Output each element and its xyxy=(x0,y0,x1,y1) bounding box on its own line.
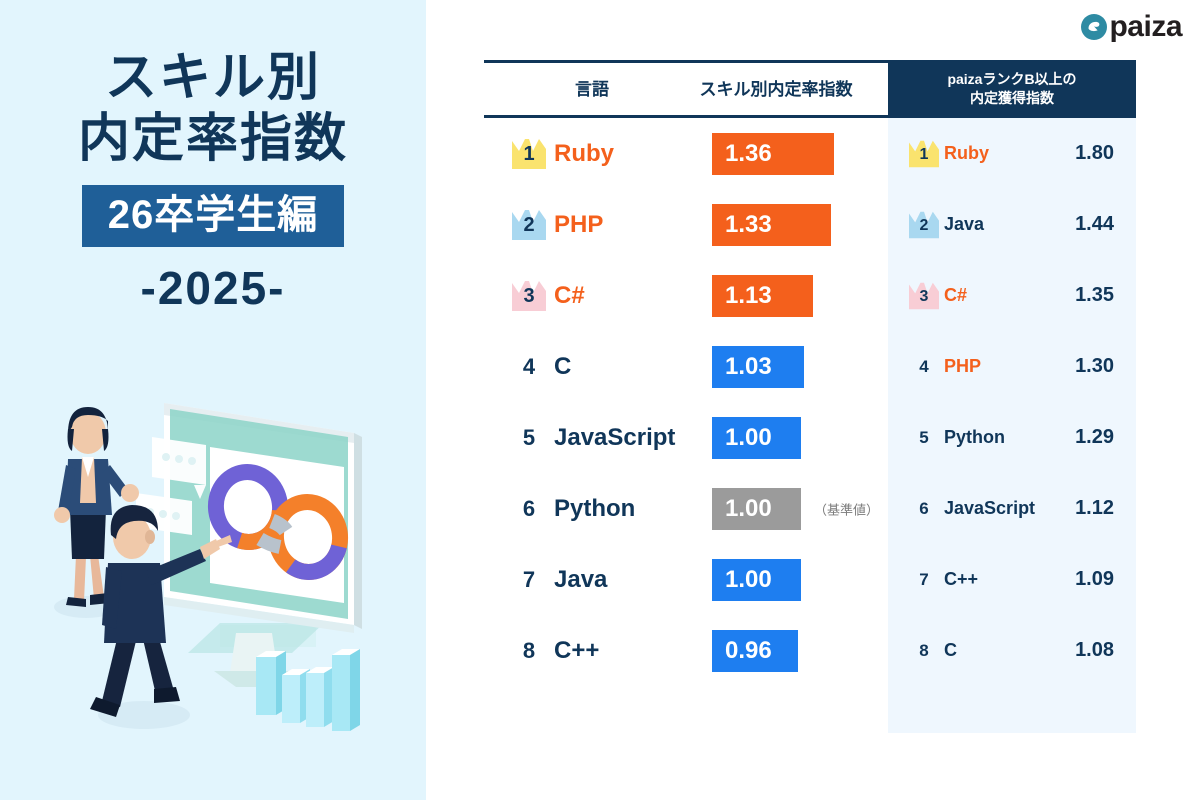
rank-cell: 6 xyxy=(508,473,550,544)
column-header-skill-index: スキル別内定率指数 xyxy=(664,60,888,115)
table-row: 1Ruby1.36 xyxy=(484,118,888,189)
right-rows: 1Ruby1.802Java1.443C#1.354PHP1.305Python… xyxy=(888,118,1136,686)
table-row: 8C1.08 xyxy=(888,615,1136,686)
language-label: JavaScript xyxy=(944,473,1035,544)
rank-number: 8 xyxy=(919,641,928,661)
crown-icon: 1 xyxy=(908,139,940,169)
index-bar: 1.00 xyxy=(712,488,801,530)
column-header-rank-b-line2: 内定獲得指数 xyxy=(970,89,1054,108)
rank-cell: 7 xyxy=(906,544,942,615)
rank-number: 1 xyxy=(523,144,534,171)
table-row: 2Java1.44 xyxy=(888,189,1136,260)
language-label: C++ xyxy=(944,544,978,615)
language-label: C xyxy=(944,615,957,686)
rank-number: 7 xyxy=(919,570,928,590)
rank-cell: 2 xyxy=(508,189,550,260)
index-value: 1.35 xyxy=(1075,260,1114,331)
language-label: C++ xyxy=(554,615,599,686)
ranking-table: 言語 スキル別内定率指数 paizaランクB以上の 内定獲得指数 1Ruby1.… xyxy=(484,60,1136,740)
rank-cell: 4 xyxy=(508,331,550,402)
crown-icon: 3 xyxy=(511,279,547,313)
title-line-2: 内定率指数 xyxy=(0,109,426,170)
table-row: 7Java1.00 xyxy=(484,544,888,615)
index-value: 1.12 xyxy=(1075,473,1114,544)
table-row: 3C#1.35 xyxy=(888,260,1136,331)
column-header-rank-b: paizaランクB以上の 内定獲得指数 xyxy=(888,60,1136,118)
rank-cell: 1 xyxy=(906,118,942,189)
table-row: 5JavaScript1.00 xyxy=(484,402,888,473)
language-label: PHP xyxy=(944,331,981,402)
index-value: 1.13 xyxy=(712,284,772,308)
rank-cell: 8 xyxy=(906,615,942,686)
paiza-logo[interactable]: paiza xyxy=(1081,12,1182,42)
table-row: 1Ruby1.80 xyxy=(888,118,1136,189)
title-line-1: スキル別 xyxy=(0,48,426,109)
rank-cell: 1 xyxy=(508,118,550,189)
left-panel: スキル別 内定率指数 26卒学生編 -2025- xyxy=(0,0,426,800)
rank-number: 8 xyxy=(523,638,535,664)
index-bar: 1.03 xyxy=(712,346,804,388)
column-header-rank-b-line1: paizaランクB以上の xyxy=(947,70,1076,89)
language-label: Ruby xyxy=(554,118,614,189)
table-row: 8C++0.96 xyxy=(484,615,888,686)
table-row: 2PHP1.33 xyxy=(484,189,888,260)
paiza-bird-icon xyxy=(1081,14,1107,40)
table-row: 4C1.03 xyxy=(484,331,888,402)
column-header-language: 言語 xyxy=(522,60,662,115)
rank-number: 1 xyxy=(920,147,929,169)
language-label: JavaScript xyxy=(554,402,675,473)
index-bar: 1.00 xyxy=(712,417,801,459)
crown-icon: 2 xyxy=(511,208,547,242)
rank-cell: 6 xyxy=(906,473,942,544)
crown-icon: 3 xyxy=(908,281,940,311)
language-label: C xyxy=(554,331,571,402)
index-bar: 1.36 xyxy=(712,133,834,175)
crown-icon: 2 xyxy=(908,210,940,240)
paiza-logo-text: paiza xyxy=(1109,12,1182,42)
language-label: Ruby xyxy=(944,118,989,189)
index-value: 1.80 xyxy=(1075,118,1114,189)
index-bar: 1.00 xyxy=(712,559,801,601)
index-bar: 1.33 xyxy=(712,204,831,246)
index-value: 0.96 xyxy=(712,639,772,663)
rank-cell: 4 xyxy=(906,331,942,402)
table-row: 3C#1.13 xyxy=(484,260,888,331)
table-row: 6JavaScript1.12 xyxy=(888,473,1136,544)
index-bar: 0.96 xyxy=(712,630,798,672)
language-label: Java xyxy=(944,189,984,260)
left-rows: 1Ruby1.362PHP1.333C#1.134C1.035JavaScrip… xyxy=(484,118,888,686)
rank-number: 4 xyxy=(919,357,928,377)
rank-cell: 5 xyxy=(508,402,550,473)
rank-cell: 2 xyxy=(906,189,942,260)
table-row: 6Python1.00（基準値） xyxy=(484,473,888,544)
table-row: 5Python1.29 xyxy=(888,402,1136,473)
title-badge: 26卒学生編 xyxy=(82,185,345,247)
title-year: -2025- xyxy=(0,261,426,315)
rank-number: 5 xyxy=(919,428,928,448)
rank-cell: 3 xyxy=(906,260,942,331)
rank-cell: 8 xyxy=(508,615,550,686)
index-value: 1.08 xyxy=(1075,615,1114,686)
index-value: 1.29 xyxy=(1075,402,1114,473)
title-block: スキル別 内定率指数 26卒学生編 -2025- xyxy=(0,48,426,315)
index-value: 1.03 xyxy=(712,355,772,379)
rank-number: 3 xyxy=(523,286,534,313)
index-value: 1.00 xyxy=(712,497,772,521)
language-label: C# xyxy=(554,260,585,331)
language-label: C# xyxy=(944,260,967,331)
infographic-page: スキル別 内定率指数 26卒学生編 -2025- xyxy=(0,0,1200,800)
rank-number: 7 xyxy=(523,567,535,593)
rank-number: 5 xyxy=(523,425,535,451)
isometric-presentation-illustration xyxy=(24,385,424,785)
rank-number: 4 xyxy=(523,354,535,380)
rank-number: 3 xyxy=(920,289,929,311)
index-value: 1.30 xyxy=(1075,331,1114,402)
rank-number: 2 xyxy=(523,215,534,242)
rank-number: 6 xyxy=(919,499,928,519)
index-bar: 1.13 xyxy=(712,275,813,317)
language-label: Java xyxy=(554,544,607,615)
index-value: 1.33 xyxy=(712,213,772,237)
index-value: 1.36 xyxy=(712,142,772,166)
baseline-note: （基準値） xyxy=(814,499,879,518)
rank-number: 6 xyxy=(523,496,535,522)
rank-cell: 7 xyxy=(508,544,550,615)
index-value: 1.44 xyxy=(1075,189,1114,260)
index-value: 1.00 xyxy=(712,568,772,592)
index-value: 1.00 xyxy=(712,426,772,450)
table-row: 4PHP1.30 xyxy=(888,331,1136,402)
crown-icon: 1 xyxy=(511,137,547,171)
index-value: 1.09 xyxy=(1075,544,1114,615)
rank-cell: 5 xyxy=(906,402,942,473)
language-label: Python xyxy=(944,402,1005,473)
language-label: PHP xyxy=(554,189,603,260)
rank-cell: 3 xyxy=(508,260,550,331)
table-row: 7C++1.09 xyxy=(888,544,1136,615)
rank-number: 2 xyxy=(920,218,929,240)
language-label: Python xyxy=(554,473,635,544)
